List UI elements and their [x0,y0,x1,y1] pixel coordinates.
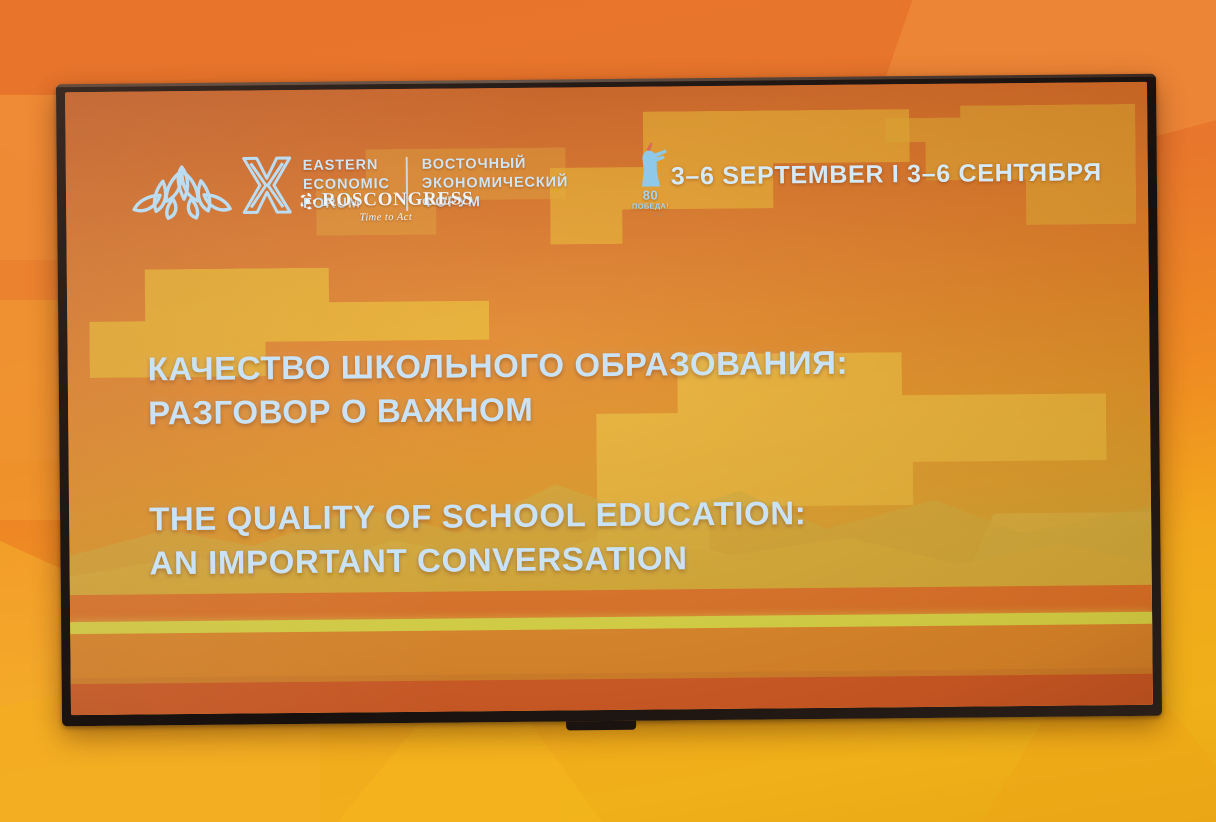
roscongress-pinwheel-icon [298,191,317,210]
television[interactable]: EASTERN ECONOMIC FORUM ВОСТОЧНЫЙ ЭКОНОМИ… [56,74,1162,727]
victory-word: ПОБЕДА! [632,201,669,210]
title-ru-line2: РАЗГОВОР О ВАЖНОМ [148,385,849,436]
tv-bezel: EASTERN ECONOMIC FORUM ВОСТОЧНЫЙ ЭКОНОМИ… [56,74,1162,727]
title-english: THE QUALITY OF SCHOOL EDUCATION: AN IMPO… [149,490,850,584]
event-dates: 3–6 SEPTEMBER I 3–6 СЕНТЯБРЯ [671,158,1102,191]
roscongress-name-row: ROSCONGRESS [298,188,474,212]
victory-number: 80 [643,189,659,202]
title-ru-line1: КАЧЕСТВО ШКОЛЬНОГО ОБРАЗОВАНИЯ: [147,341,848,392]
roscongress-logo: ROSCONGRESS Time to Act [298,188,474,224]
presentation-slide: EASTERN ECONOMIC FORUM ВОСТОЧНЫЙ ЭКОНОМИ… [65,82,1153,715]
slide-header: EASTERN ECONOMIC FORUM ВОСТОЧНЫЙ ЭКОНОМИ… [65,82,1148,222]
tv-screen: EASTERN ECONOMIC FORUM ВОСТОЧНЫЙ ЭКОНОМИ… [65,82,1153,715]
tv-ir-sensor [566,721,636,731]
title-en-line2: AN IMPORTANT CONVERSATION [149,534,850,585]
roscongress-name: ROSCONGRESS [322,188,474,211]
slide-titles: КАЧЕСТВО ШКОЛЬНОГО ОБРАЗОВАНИЯ: РАЗГОВОР… [147,341,850,585]
title-russian: КАЧЕСТВО ШКОЛЬНОГО ОБРАЗОВАНИЯ: РАЗГОВОР… [147,341,848,435]
roman-numeral-x-icon [240,154,295,217]
victory-80-badge: 80 ПОБЕДА! [630,140,671,210]
roscongress-tagline: Time to Act [360,212,413,224]
victory-soldier-icon [630,140,670,188]
forum-name-en-line1: EASTERN [303,156,390,176]
forum-name-ru-line1: ВОСТОЧНЫЙ [422,154,569,174]
title-en-line1: THE QUALITY OF SCHOOL EDUCATION: [149,490,850,541]
lotus-flower-icon [130,159,235,222]
